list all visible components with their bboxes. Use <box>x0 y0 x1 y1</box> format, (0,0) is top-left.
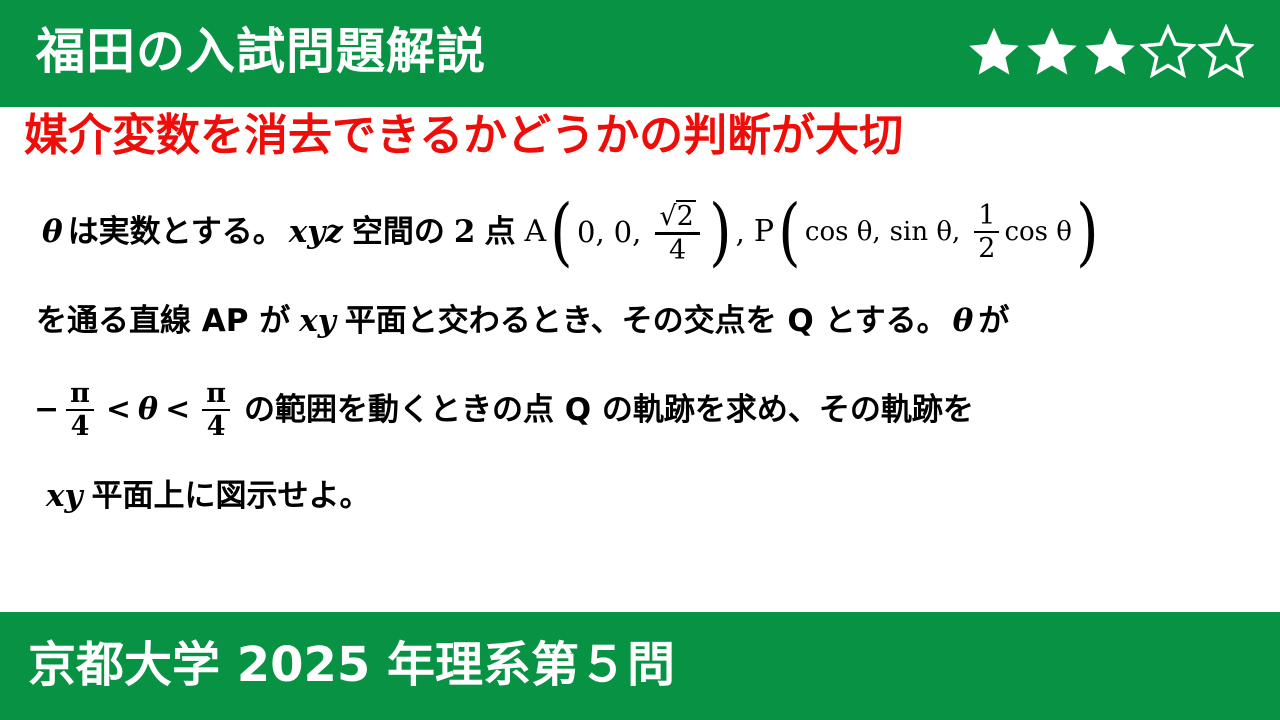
point-p-z-fraction: 1 2 <box>974 202 999 263</box>
star-filled-icon <box>1024 24 1080 80</box>
problem-line-1: θ は実数とする。 xyz 空間の 2 点 A ( 0, 0, √2 4 <box>0 186 1280 278</box>
line1-text-a: は実数とする。 <box>68 217 284 248</box>
point-p-y: sin θ, <box>890 219 961 245</box>
point-p-label: P <box>754 217 774 247</box>
fraction-numerator: π <box>202 380 230 409</box>
fraction-denominator: 4 <box>665 235 690 264</box>
line1-text-c: 点 <box>484 217 515 248</box>
line1-text-b: 空間の <box>352 217 445 248</box>
channel-title: 福田の入試問題解説 <box>36 27 486 76</box>
variable-theta: θ <box>42 217 63 248</box>
line2-text-c: が <box>978 306 1009 337</box>
line2-text-b: 平面と交わるとき、その交点を Q とする。 <box>345 306 948 337</box>
plane-label-xy: xy <box>46 481 83 512</box>
star-outline-icon <box>1198 24 1254 80</box>
problem-line-2: を通る直線 AP が xy 平面と交わるとき、その交点を Q とする。 θ が <box>0 278 1280 364</box>
coordinate-separator: , <box>736 218 745 247</box>
footer-bar: 京都大学 2025 年理系第５問 <box>0 612 1280 720</box>
line3-text: の範囲を動くときの点 Q の軌跡を求め、その軌跡を <box>244 395 974 426</box>
point-p-x: cos θ, <box>805 219 881 245</box>
variable-theta: θ <box>953 306 974 337</box>
star-filled-icon <box>966 24 1022 80</box>
problem-line-4: xy 平面上に図示せよ。 <box>0 456 1280 536</box>
sqrt-symbol-icon: √2 <box>659 200 695 230</box>
star-filled-icon <box>1082 24 1138 80</box>
less-than-sign: < <box>106 395 131 425</box>
point-a-y: 0, <box>614 218 642 247</box>
exam-source-label: 京都大学 2025 年理系第５問 <box>28 641 675 689</box>
point-a-label: A <box>524 217 546 247</box>
range-upper-fraction: π 4 <box>202 380 230 441</box>
fraction-denominator: 2 <box>974 233 999 262</box>
line4-text: 平面上に図示せよ。 <box>92 481 371 512</box>
line2-text-a: を通る直線 AP が <box>36 306 290 337</box>
fraction-numerator: √2 <box>655 200 699 232</box>
fraction-denominator: 4 <box>203 411 230 440</box>
lesson-subtitle: 媒介変数を消去できるかどうかの判断が大切 <box>24 111 903 160</box>
space-label-xyz: xyz <box>289 217 343 248</box>
point-p-z-trail: cos θ <box>1004 219 1071 245</box>
difficulty-rating <box>966 24 1254 80</box>
fraction-numerator: 1 <box>974 202 999 231</box>
less-than-sign: < <box>165 395 190 425</box>
fraction-numerator: π <box>66 380 94 409</box>
minus-sign: − <box>34 395 59 425</box>
problem-line-3: − π 4 < θ < π 4 の範囲を動くときの点 Q の軌跡を求め、その軌跡… <box>0 364 1280 456</box>
point-a-z-fraction: √2 4 <box>655 200 699 264</box>
problem-statement: θ は実数とする。 xyz 空間の 2 点 A ( 0, 0, √2 4 <box>0 186 1280 536</box>
range-lower-fraction: π 4 <box>66 380 94 441</box>
header-bar: 福田の入試問題解説 <box>0 0 1280 107</box>
plane-label-xy: xy <box>299 306 336 337</box>
star-outline-icon <box>1140 24 1196 80</box>
slide-root: 福田の入試問題解説 媒介変数を消去できるかどうかの判断が大切 θ <box>0 0 1280 720</box>
fraction-denominator: 4 <box>67 411 94 440</box>
point-count: 2 <box>454 217 476 248</box>
variable-theta: θ <box>138 395 158 425</box>
point-a-x: 0, <box>577 218 605 247</box>
